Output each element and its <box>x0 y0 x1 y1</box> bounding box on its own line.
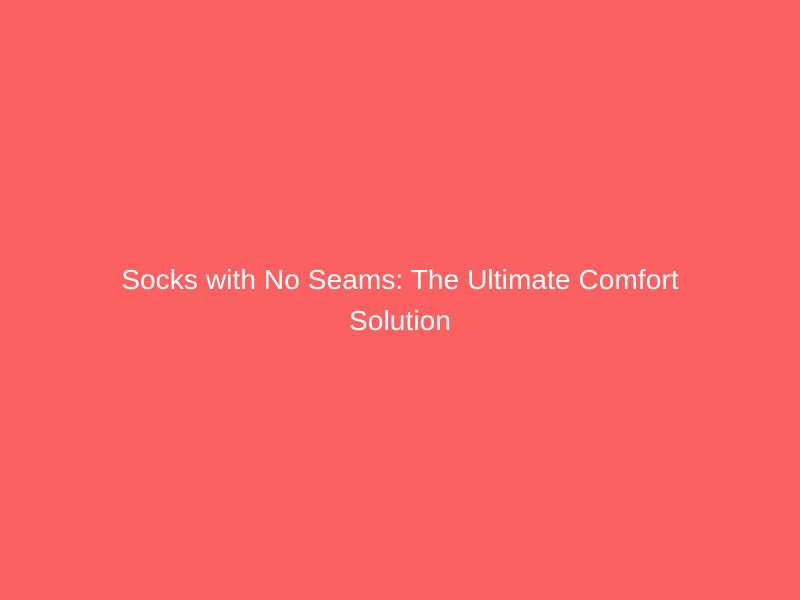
banner-title-block: Socks with No Seams: The Ultimate Comfor… <box>70 259 730 341</box>
banner-canvas: Socks with No Seams: The Ultimate Comfor… <box>0 0 800 600</box>
page-title: Socks with No Seams: The Ultimate Comfor… <box>82 259 718 341</box>
